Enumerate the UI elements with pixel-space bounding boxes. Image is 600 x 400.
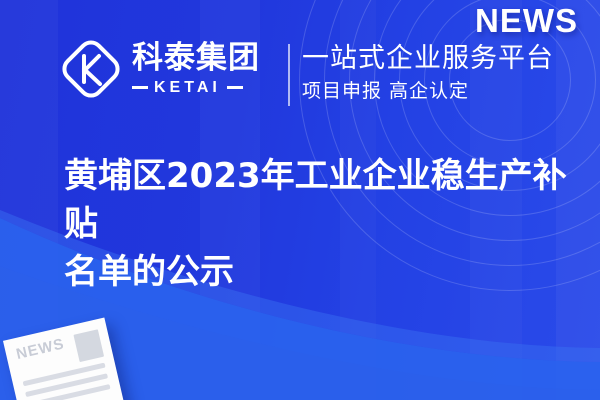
page-title: 黄埔区2023年工业企业稳生产补贴 名单的公示: [64, 152, 584, 296]
vertical-divider: [288, 44, 290, 106]
news-banner: 科泰集团 KETAI 一站式企业服务平台 项目申报 高企认定 NEWS 黄埔区2…: [0, 0, 600, 400]
brand-name-cn: 科泰集团: [132, 43, 260, 74]
ketai-diamond-k-logo-icon: [60, 38, 122, 100]
banner-header: 科泰集团 KETAI 一站式企业服务平台 项目申报 高企认定 NEWS: [0, 0, 600, 140]
brand-name-en: KETAI: [154, 80, 221, 96]
page-title-line-2: 名单的公示: [64, 248, 584, 296]
slogan-sub: 项目申报 高企认定: [302, 78, 554, 105]
brand-dash-right: [227, 86, 243, 89]
page-title-line-1: 黄埔区2023年工业企业稳生产补贴: [64, 152, 584, 248]
slogan-block: 一站式企业服务平台 项目申报 高企认定: [302, 42, 554, 105]
newspaper-illustration: NEWS: [3, 317, 125, 400]
brand-logo: 科泰集团 KETAI: [60, 38, 260, 100]
brand-dash-left: [132, 86, 148, 89]
brand-name-en-row: KETAI: [132, 80, 260, 96]
news-watermark: NEWS: [475, 2, 578, 40]
newspaper-heading: NEWS: [15, 336, 66, 363]
newspaper-image-placeholder: [73, 329, 104, 362]
slogan-main: 一站式企业服务平台: [302, 42, 554, 76]
